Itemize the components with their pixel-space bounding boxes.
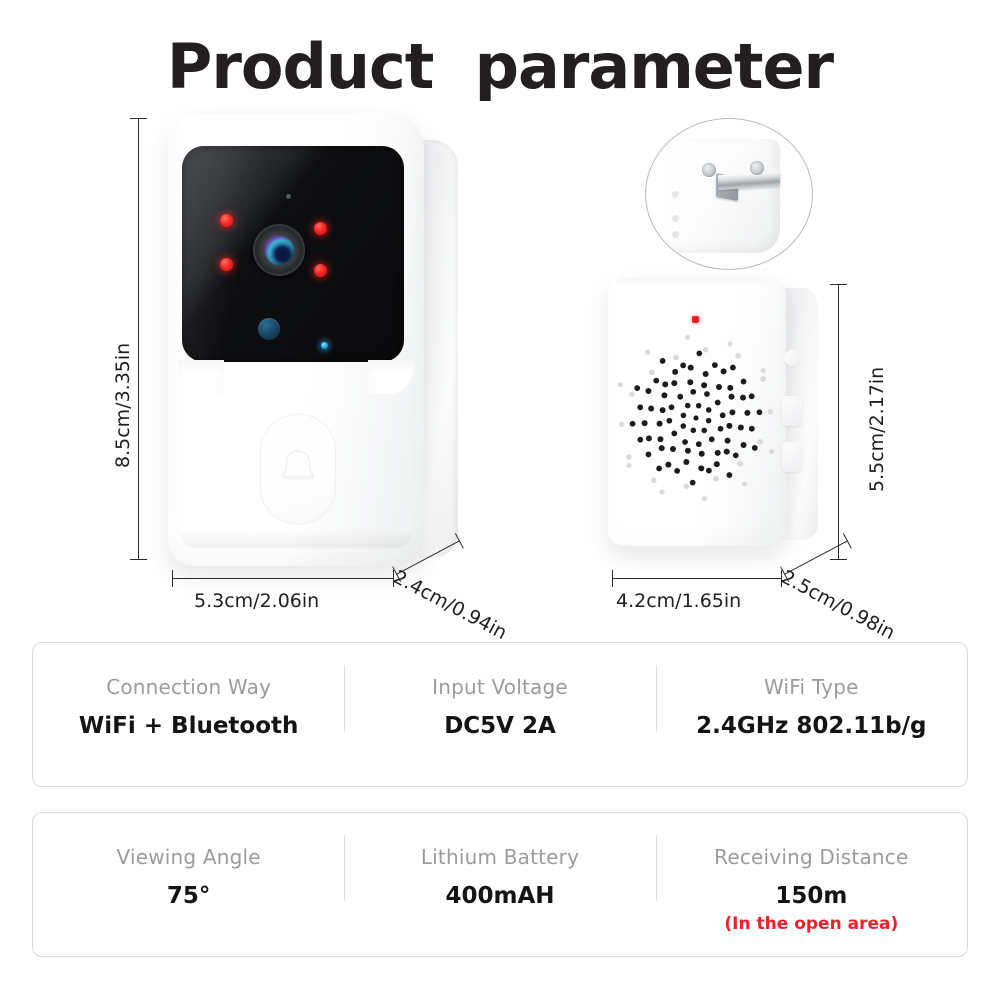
chime-receiver-product	[608, 278, 828, 550]
screw-icon	[750, 161, 764, 175]
doorbell-height-label: 8.5cm/3.35in	[112, 343, 134, 468]
ir-led-icon	[314, 222, 327, 235]
spec-cell-input-voltage: Input Voltage DC5V 2A	[344, 643, 655, 786]
vent-hole-icon	[672, 191, 679, 198]
light-sensor-icon	[258, 318, 280, 340]
spec-value: WiFi + Bluetooth	[79, 713, 299, 739]
chime-volume-button[interactable]	[782, 396, 802, 426]
doorbell-camera-panel	[182, 146, 404, 362]
spec-row-1: Connection Way WiFi + Bluetooth Input Vo…	[32, 642, 968, 787]
doorbell-width-dimension-line	[172, 578, 394, 579]
doorbell-height-dimension-line	[138, 118, 139, 560]
doorbell-camera-product	[168, 114, 458, 574]
spec-value: 2.4GHz 802.11b/g	[696, 713, 926, 739]
spec-label: Viewing Angle	[117, 845, 261, 869]
status-led-icon	[321, 342, 328, 349]
spec-label: Lithium Battery	[421, 845, 579, 869]
spec-value: 400mAH	[445, 883, 554, 909]
vent-hole-icon	[672, 215, 679, 222]
doorbell-shoulder-right	[368, 360, 414, 394]
ir-led-icon	[220, 258, 233, 271]
spec-label: Connection Way	[106, 675, 271, 699]
page-title: Product parameter	[0, 30, 1000, 103]
speaker-grille-icon	[616, 334, 776, 502]
doorbell-shoulder-left	[178, 360, 224, 394]
microphone-pinhole-icon	[286, 194, 291, 199]
doorbell-depth-label: 2.4cm/0.94in	[390, 566, 511, 644]
chime-top-rim	[616, 278, 766, 288]
chime-height-label: 5.5cm/2.17in	[866, 367, 888, 492]
spec-label: Input Voltage	[432, 675, 568, 699]
spec-value: 75°	[167, 883, 211, 909]
spec-row-2: Viewing Angle 75° Lithium Battery 400mAH…	[32, 812, 968, 957]
power-led-icon	[692, 316, 699, 323]
doorbell-width-label: 5.3cm/2.06in	[194, 590, 319, 612]
chime-width-dimension-line	[612, 578, 782, 579]
spec-cell-wifi-type: WiFi Type 2.4GHz 802.11b/g	[656, 643, 967, 786]
spec-cell-lithium-battery: Lithium Battery 400mAH	[344, 813, 655, 956]
chime-height-dimension-line	[838, 284, 839, 560]
product-illustration-stage: 8.5cm/3.35in 5.3cm/2.06in 2.4cm/0.94in 5…	[0, 100, 1000, 630]
screw-icon	[702, 163, 716, 177]
lens-iris	[264, 235, 294, 265]
spec-cell-viewing-angle: Viewing Angle 75°	[33, 813, 344, 956]
spec-cell-connection-way: Connection Way WiFi + Bluetooth	[33, 643, 344, 786]
camera-lens-icon	[253, 224, 305, 276]
spec-label: Receiving Distance	[714, 845, 908, 869]
chime-body	[608, 278, 786, 546]
vent-hole-icon	[672, 231, 679, 238]
chime-width-label: 4.2cm/1.65in	[616, 590, 741, 612]
doorbell-press-button[interactable]	[260, 414, 336, 524]
spec-label: WiFi Type	[764, 675, 859, 699]
doorbell-body	[168, 114, 424, 566]
doorbell-bottom-seam	[180, 532, 412, 548]
spec-cell-receiving-distance: Receiving Distance 150m (In the open are…	[656, 813, 967, 956]
ir-led-icon	[314, 264, 327, 277]
chime-melody-button[interactable]	[782, 442, 802, 472]
spec-note: (In the open area)	[724, 914, 898, 934]
chime-round-button[interactable]	[784, 350, 800, 366]
bell-icon	[278, 447, 318, 491]
ac-plug-detail-inset	[645, 118, 813, 270]
spec-value: 150m	[775, 883, 847, 909]
chime-depth-label: 2.5cm/0.98in	[778, 566, 899, 644]
ir-led-icon	[220, 214, 233, 227]
spec-value: DC5V 2A	[444, 713, 556, 739]
